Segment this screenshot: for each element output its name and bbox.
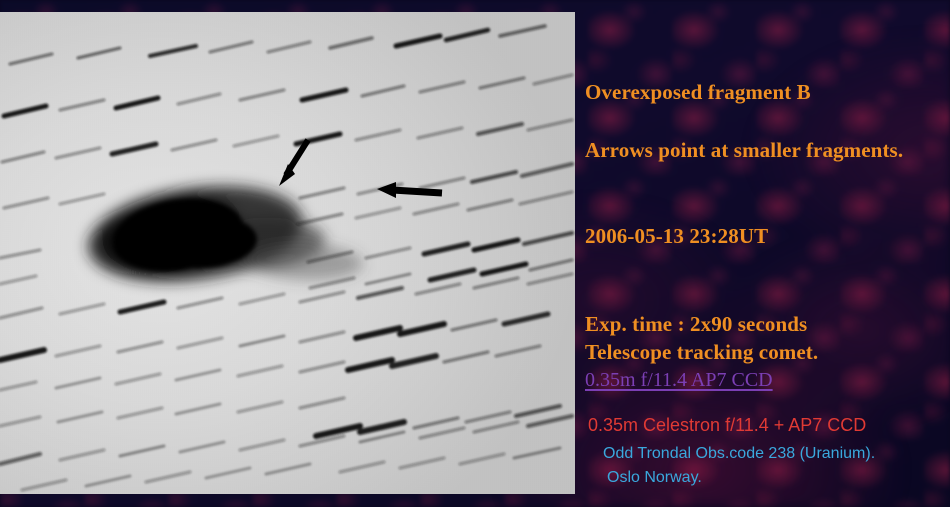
annotation-arrows <box>279 140 442 198</box>
observatory-line: Odd Trondal Obs.code 238 (Uranium). <box>603 446 875 462</box>
caption-title: Overexposed fragment B <box>585 82 811 103</box>
photo-features <box>0 12 575 494</box>
caption-datetime: 2006-05-13 23:28UT <box>585 226 768 247</box>
arrow-upper-icon <box>279 140 308 186</box>
page-root: Overexposed fragment B Arrows point at s… <box>0 0 950 507</box>
caption-tracking-note: Telescope tracking comet. <box>585 342 818 363</box>
caption-panel: Overexposed fragment B Arrows point at s… <box>583 0 950 507</box>
comet-photo <box>0 12 575 494</box>
telescope-ccd-link[interactable]: 0.35m f/11.4 AP7 CCD <box>585 370 773 390</box>
caption-exposure-time: Exp. time : 2x90 seconds <box>585 314 807 335</box>
instrument-line: 0.35m Celestron f/11.4 + AP7 CCD <box>588 416 866 434</box>
caption-subtitle: Arrows point at smaller fragments. <box>585 140 903 161</box>
location-line: Oslo Norway. <box>607 470 702 486</box>
